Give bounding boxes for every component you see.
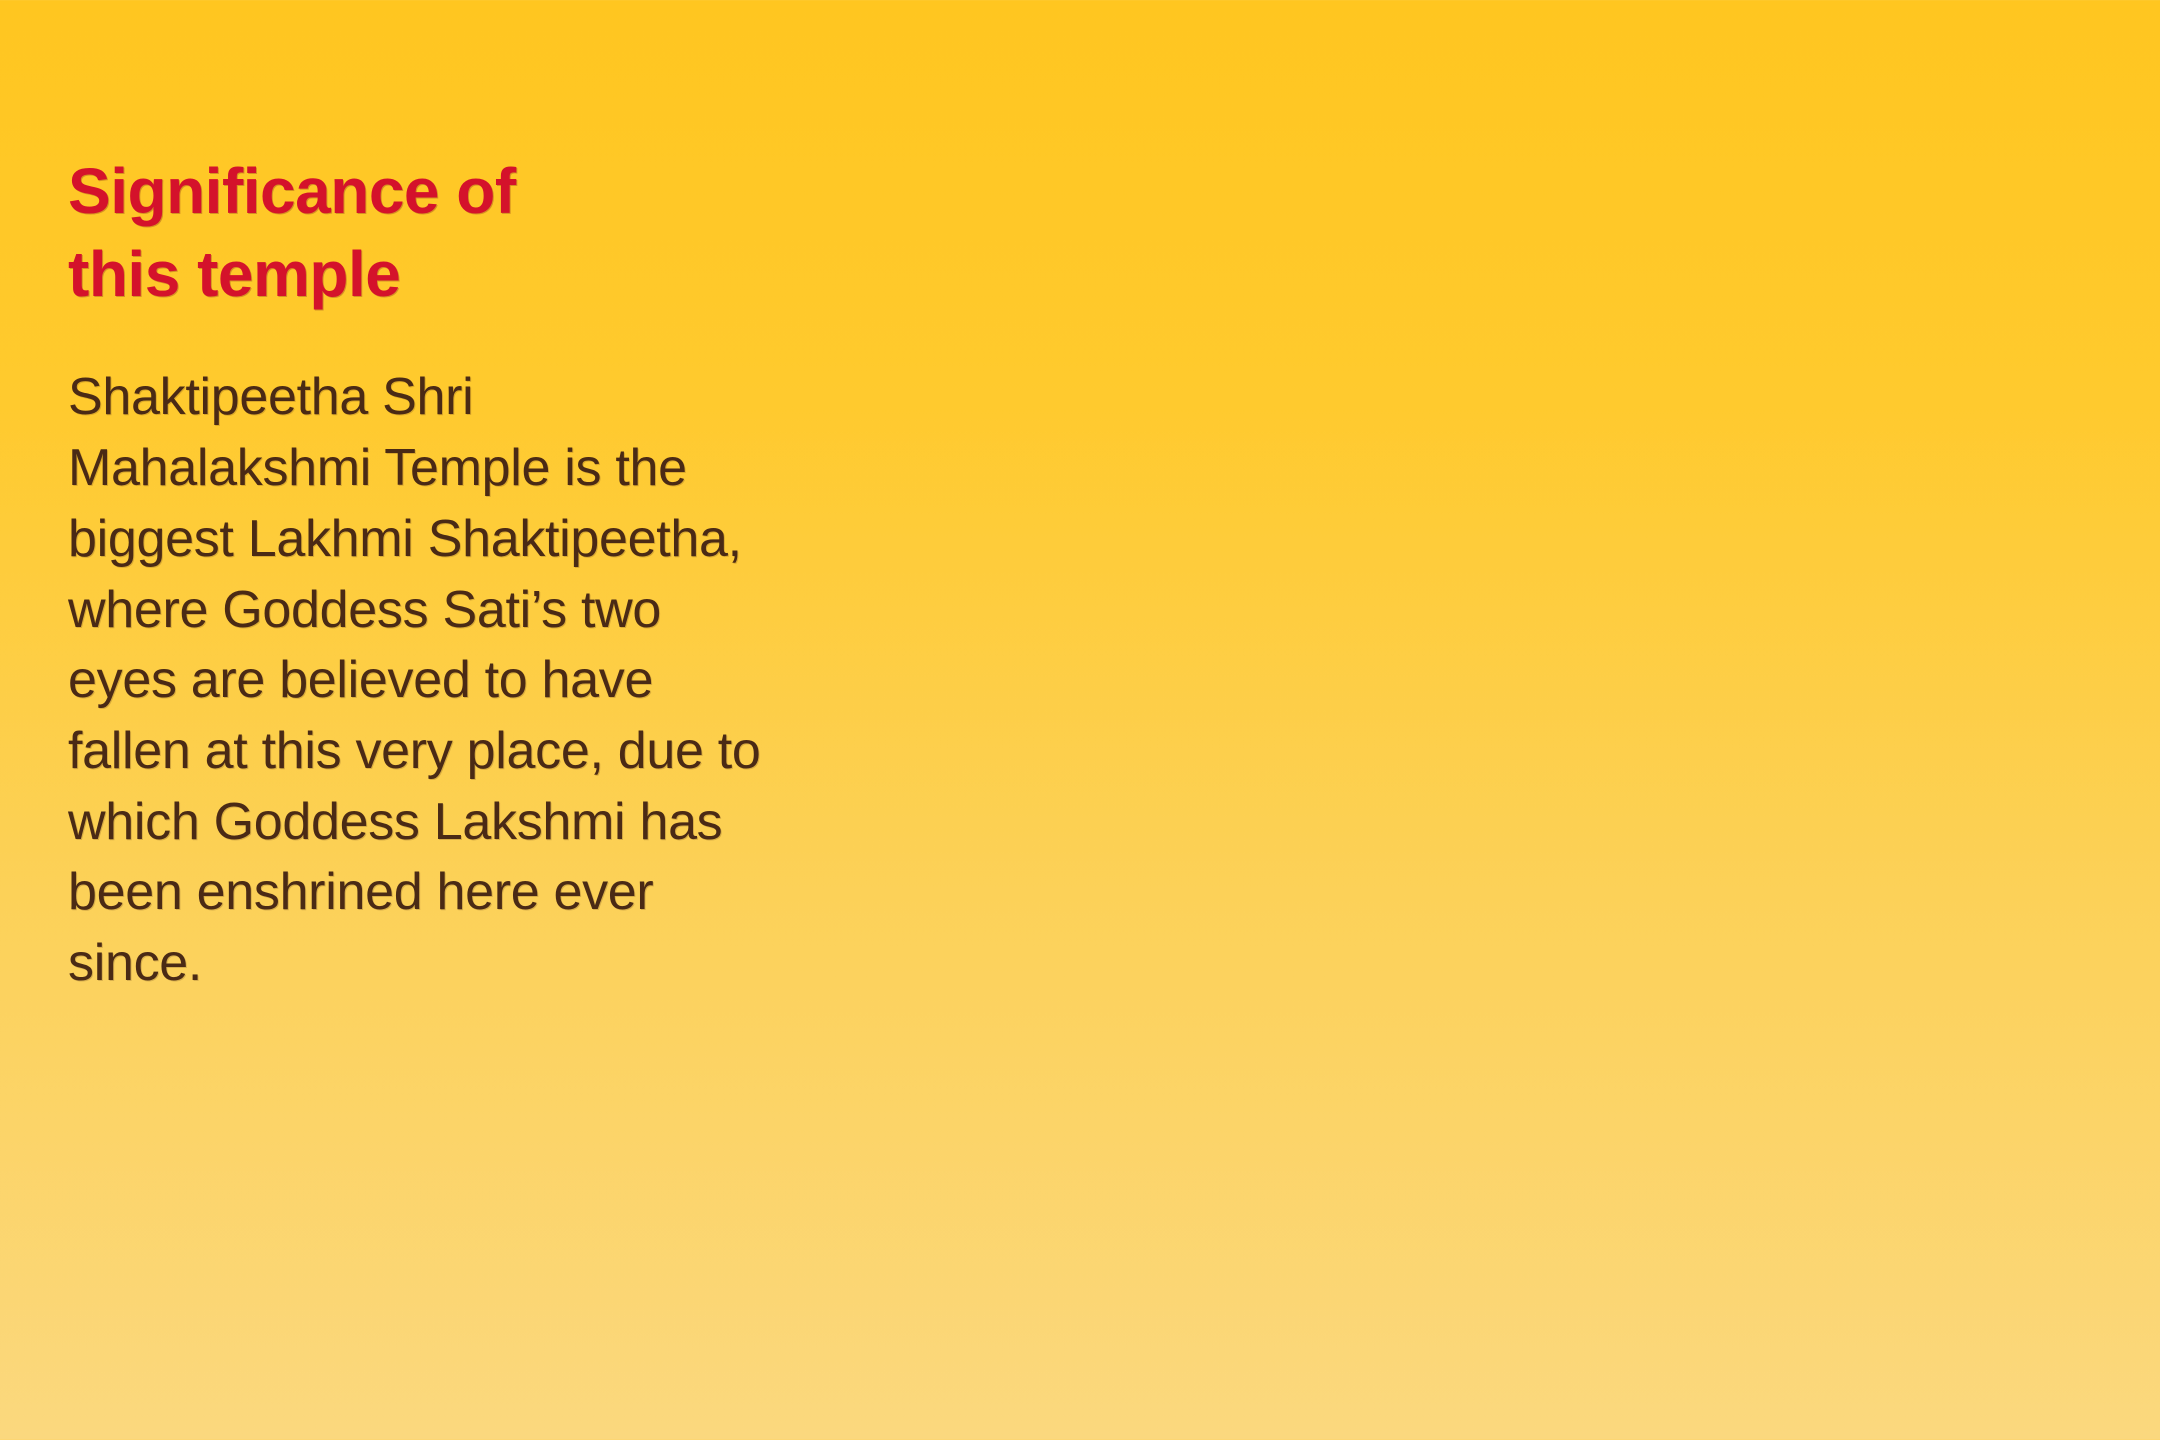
text-column: Significance of this temple Shaktipeetha… [68,150,768,999]
temple-photo-frame [1101,112,2160,1324]
page-title: Significance of this temple [68,150,628,316]
arch-corner-decoration [1110,121,2160,1323]
body-paragraph: Shaktipeetha Shri Mahalakshmi Temple is … [68,362,768,998]
